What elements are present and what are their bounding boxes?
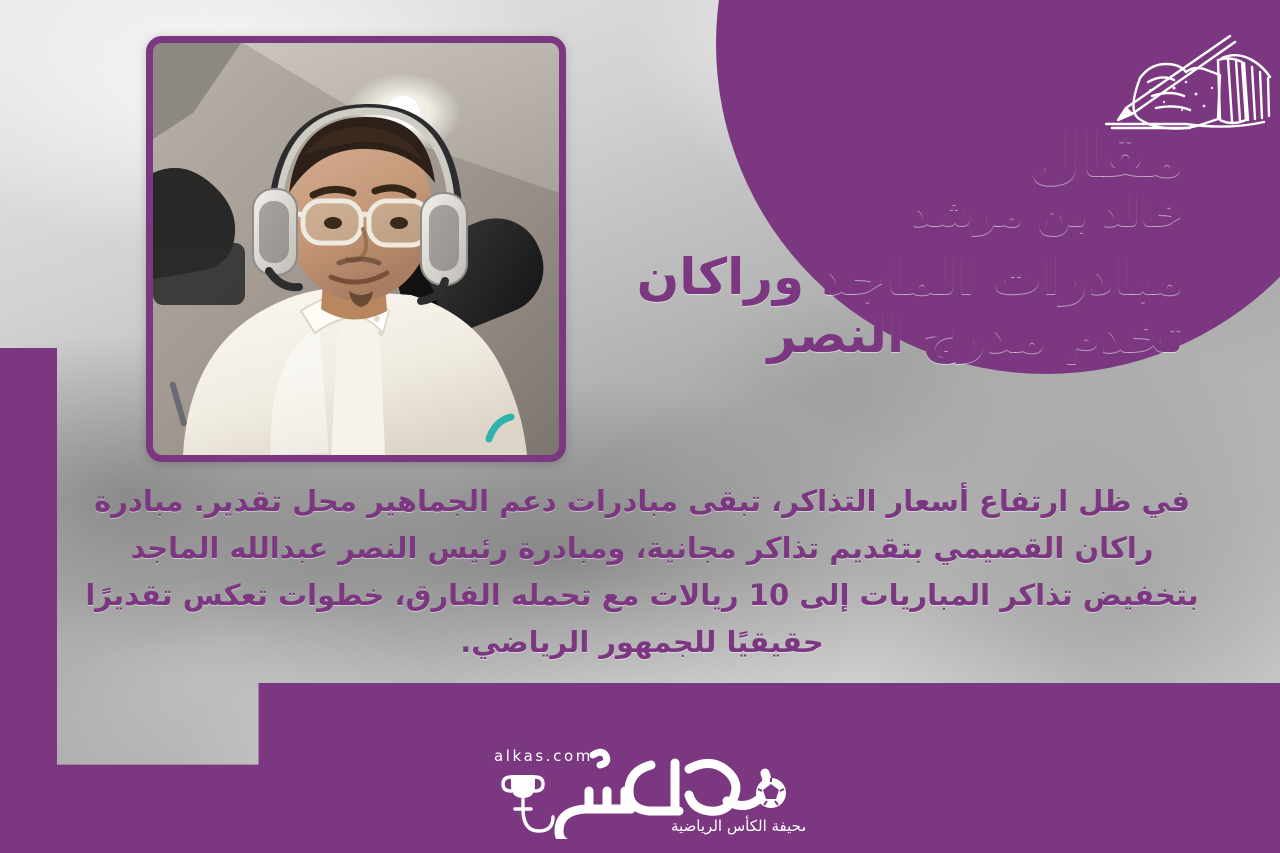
author-photo — [153, 43, 559, 455]
article-title-line-1: مبادرات الماجد وراكان — [544, 248, 1184, 306]
article-card: مقال خالد بن مرشد مبادرات الماجد وراكان … — [0, 0, 1280, 853]
article-title: مبادرات الماجد وراكان تخدم مدرج النصر — [544, 248, 1184, 364]
purple-left-strip — [0, 348, 57, 768]
alkas-logo[interactable]: alkas.com — [475, 739, 805, 839]
article-kicker: مقال — [544, 126, 1184, 187]
logo-tagline: صحيفة الكأس الرياضية — [671, 815, 805, 835]
author-photo-frame — [146, 36, 566, 462]
headline-block: مقال خالد بن مرشد مبادرات الماجد وراكان … — [544, 126, 1184, 364]
article-body: في ظل ارتفاع أسعار التذاكر، تبقى مبادرات… — [82, 478, 1202, 666]
logo-site-url: alkas.com — [494, 747, 593, 765]
trophy-icon — [503, 775, 553, 831]
article-author: خالد بن مرشد — [544, 193, 1184, 234]
article-title-line-2: تخدم مدرج النصر — [544, 306, 1184, 364]
football-icon — [756, 778, 786, 808]
